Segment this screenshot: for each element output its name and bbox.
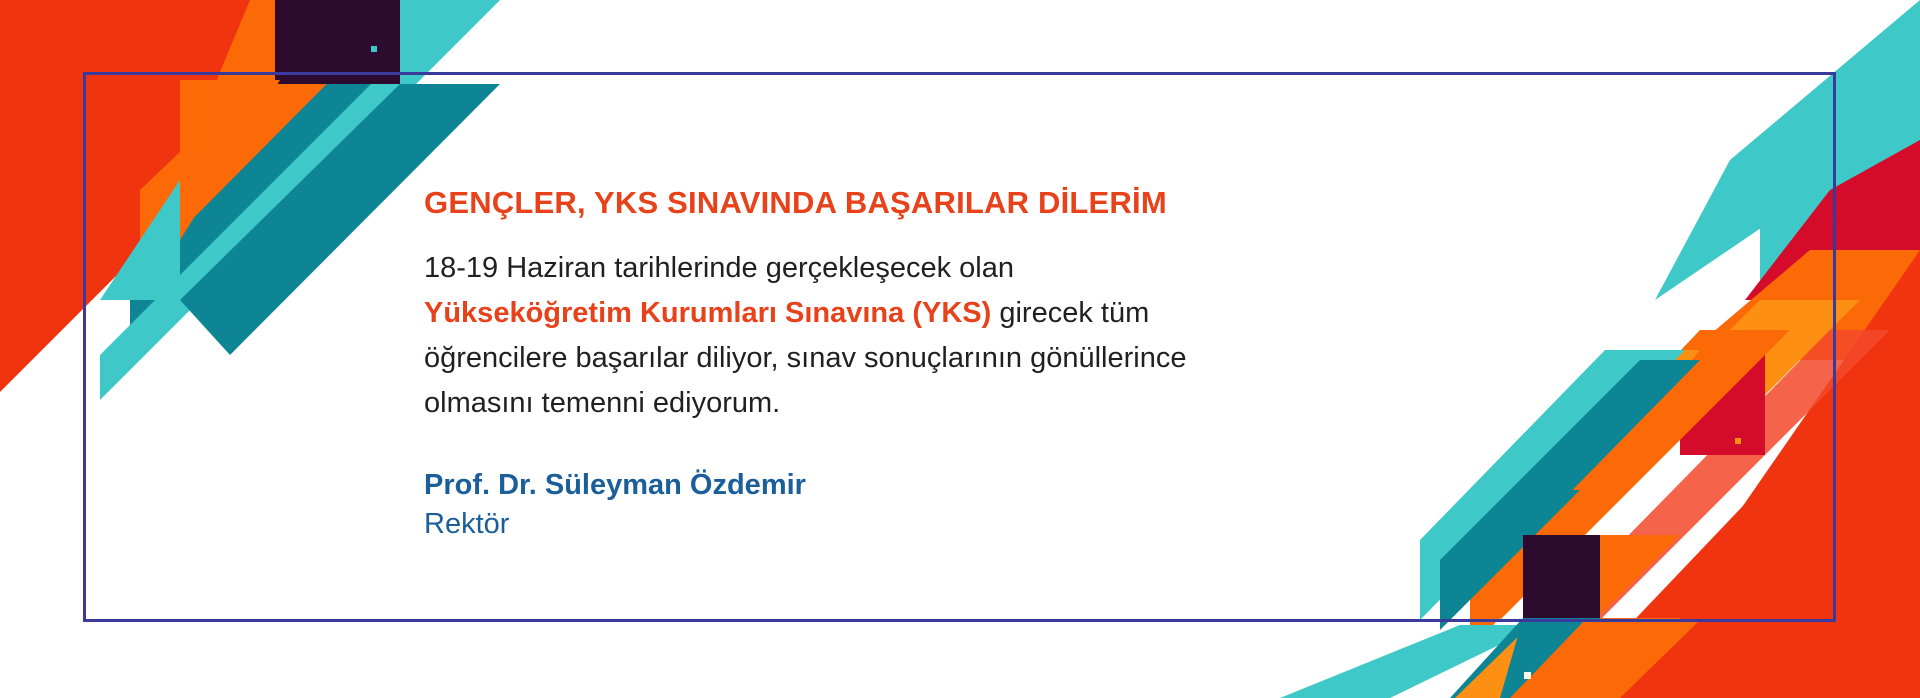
deco-shape-teal-below2-br (1500, 618, 1585, 698)
deco-shape-orange-band-top-left (200, 0, 460, 260)
deco-shape-purple-block-br (1523, 535, 1600, 618)
deco-shape-red-bottom-right (1610, 250, 1920, 698)
message-body-line-4: olmasını temenni ediyorum. (424, 381, 1504, 426)
deco-shape-orange-inner-top-left (180, 80, 280, 240)
deco-dot-cyan-top-left (371, 46, 377, 52)
signature-name: Prof. Dr. Süleyman Özdemir (424, 466, 1504, 505)
deco-shape-teal-below-frame-br (1450, 618, 1600, 698)
deco-shape-cyan-ur2 (1760, 30, 1920, 300)
deco-shape-crimson-ur (1745, 140, 1920, 300)
page-title: GENÇLER, YKS SINAVINDA BAŞARILAR DİLERİM (424, 186, 1504, 220)
deco-shape-orange-over-crimson-br (1680, 350, 1765, 435)
deco-shape-red-highlight-bottom-right (1565, 330, 1890, 655)
message-content: GENÇLER, YKS SINAVINDA BAŞARILAR DİLERİM… (424, 186, 1504, 544)
signature-title: Rektör (424, 505, 1504, 544)
message-body-line-3: öğrencilere başarılar diliyor, sınav son… (424, 336, 1504, 381)
deco-shape-red-below2-br (1640, 650, 1920, 698)
deco-shape-orangelight-ur (1700, 300, 1860, 400)
deco-shape-red-top-left (0, 0, 392, 392)
deco-shape-orange-band-br (1500, 330, 1790, 620)
deco-shape-cyan-tri-top-left (400, 0, 500, 100)
rector-message-banner: GENÇLER, YKS SINAVINDA BAŞARILAR DİLERİM… (0, 0, 1920, 698)
message-body-line-1: 18-19 Haziran tarihlerinde gerçekleşecek… (424, 246, 1504, 291)
exam-name-highlight: Yükseköğretim Kurumları Sınavına (YKS) (424, 297, 991, 329)
deco-shape-red-base-top-left (0, 0, 250, 250)
deco-shape-purple-block2-top-left (275, 0, 400, 84)
deco-shape-orange-band-br3 (1470, 360, 1740, 650)
deco-shape-crimson-square-br (1680, 350, 1765, 455)
deco-shape-orange-below-frame-br (1520, 618, 1680, 698)
deco-shape-cyan-wedge-top-left (100, 180, 180, 300)
deco-shape-cyan-below-frame-br (1280, 625, 1540, 698)
deco-shape-crimson-ur2 (1745, 145, 1920, 300)
deco-dot-orange-br (1735, 438, 1741, 444)
deco-shape-cyan-ur (1655, 0, 1920, 300)
deco-shape-orange-over-purple-br (1600, 535, 1680, 615)
deco-shape-orange-band2-top-left (140, 0, 460, 320)
message-body-line-2: Yükseköğretim Kurumları Sınavına (YKS) g… (424, 291, 1504, 336)
deco-shape-orangelight-below-frame-br (1455, 625, 1610, 698)
message-body: 18-19 Haziran tarihlerinde gerçekleşecek… (424, 246, 1504, 426)
message-body-line-2-rest: girecek tüm (991, 297, 1149, 329)
deco-shape-orange-band-br2 (1470, 350, 1700, 640)
deco-shape-purple-block-top-left (320, 0, 400, 84)
deco-shape-red-bottom-right2 (1560, 320, 1920, 698)
signature-block: Prof. Dr. Süleyman Özdemir Rektör (424, 466, 1504, 544)
deco-shape-crimson-square-br2 (1690, 350, 1765, 455)
deco-shape-red-below-frame-br (1620, 620, 1920, 698)
deco-dot-white-br (1524, 672, 1531, 679)
deco-shape-orange-below2-br (1510, 620, 1700, 698)
deco-shape-orange-ur (1680, 250, 1920, 360)
